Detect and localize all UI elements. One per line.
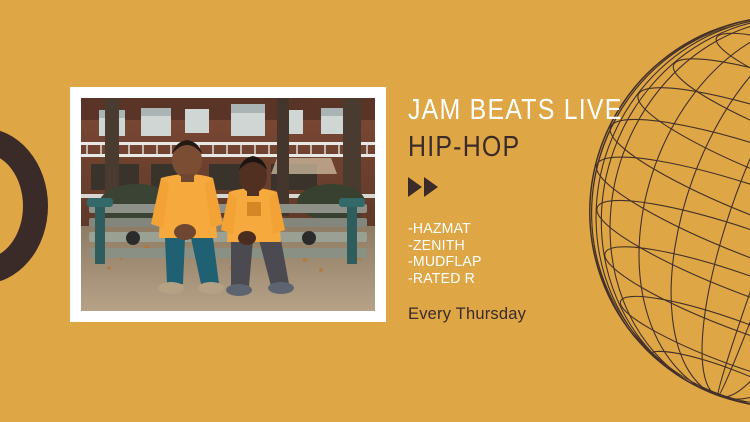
photo-image bbox=[81, 98, 375, 311]
text-column: JAM BEATS LIVE HIP-HOP -HAZMAT -ZENITH -… bbox=[408, 92, 658, 324]
photo-illustration bbox=[81, 98, 375, 311]
lineup-list: -HAZMAT -ZENITH -MUDFLAP -RATED R bbox=[408, 221, 658, 287]
schedule-text: Every Thursday bbox=[408, 305, 658, 324]
list-item: -HAZMAT bbox=[408, 221, 643, 238]
ring-decoration bbox=[0, 128, 48, 284]
list-item: -ZENITH bbox=[408, 238, 643, 255]
page-title-line1: JAM BEATS LIVE bbox=[408, 92, 623, 128]
fast-forward-icon bbox=[408, 177, 658, 197]
list-item: -MUDFLAP bbox=[408, 254, 643, 271]
photo-frame bbox=[70, 87, 386, 322]
poster-canvas: JAM BEATS LIVE HIP-HOP -HAZMAT -ZENITH -… bbox=[0, 0, 750, 422]
list-item: -RATED R bbox=[408, 271, 643, 288]
arrow-triangle-2 bbox=[424, 177, 438, 197]
page-title-line2: HIP-HOP bbox=[408, 129, 623, 165]
arrow-triangle-1 bbox=[408, 177, 422, 197]
